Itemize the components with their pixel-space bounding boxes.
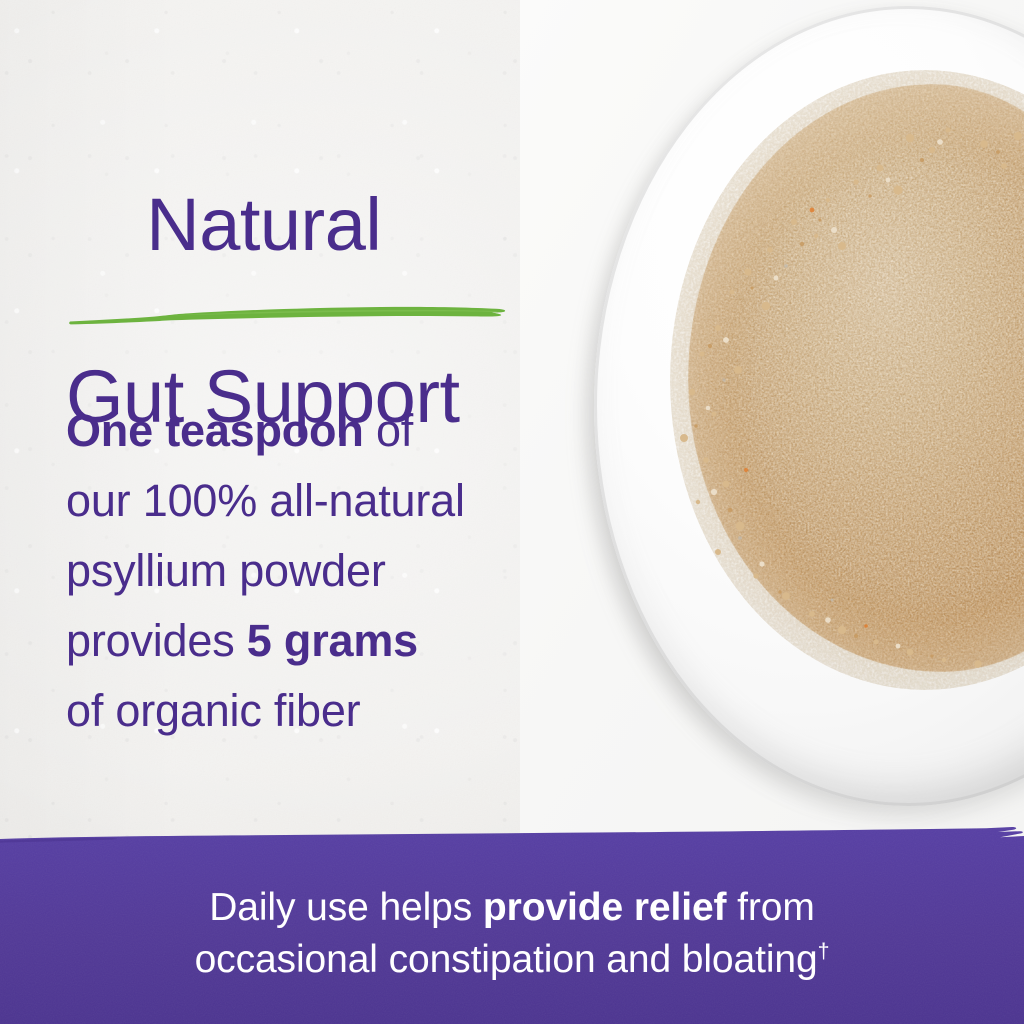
- footer-band: Daily use helps provide relief from occa…: [0, 820, 1024, 1024]
- body-line-4: provides 5 grams: [66, 606, 586, 676]
- body-line-4-prefix: provides: [66, 615, 247, 666]
- body-line-3: psyllium powder: [66, 536, 586, 606]
- footer-line-2: occasional constipation and bloating†: [0, 934, 1024, 986]
- footer-line-1-bold: provide relief: [483, 886, 727, 929]
- footer-line-1-prefix: Daily use helps: [209, 886, 483, 929]
- body-copy: One teaspoon of our 100% all-natural psy…: [66, 396, 586, 746]
- product-photo: [520, 0, 1024, 848]
- body-line-2: our 100% all-natural: [66, 466, 586, 536]
- body-line-1-rest: of: [364, 405, 413, 456]
- body-line-1: One teaspoon of: [66, 396, 586, 466]
- dagger-footnote-marker: †: [818, 939, 830, 963]
- footer-text: Daily use helps provide relief from occa…: [0, 882, 1024, 986]
- product-marketing-banner: Natural Gut Support One teaspoon of our …: [0, 0, 1024, 1024]
- footer-line-1: Daily use helps provide relief from: [0, 882, 1024, 934]
- footer-line-2-text: occasional constipation and bloating: [195, 938, 818, 981]
- headline-line-1: Natural: [146, 183, 381, 266]
- green-brush-underline-icon: [68, 296, 508, 328]
- footer-line-1-suffix: from: [726, 886, 814, 929]
- body-line-5: of organic fiber: [66, 676, 586, 746]
- body-line-1-bold: One teaspoon: [66, 405, 364, 456]
- body-line-4-bold: 5 grams: [247, 615, 418, 666]
